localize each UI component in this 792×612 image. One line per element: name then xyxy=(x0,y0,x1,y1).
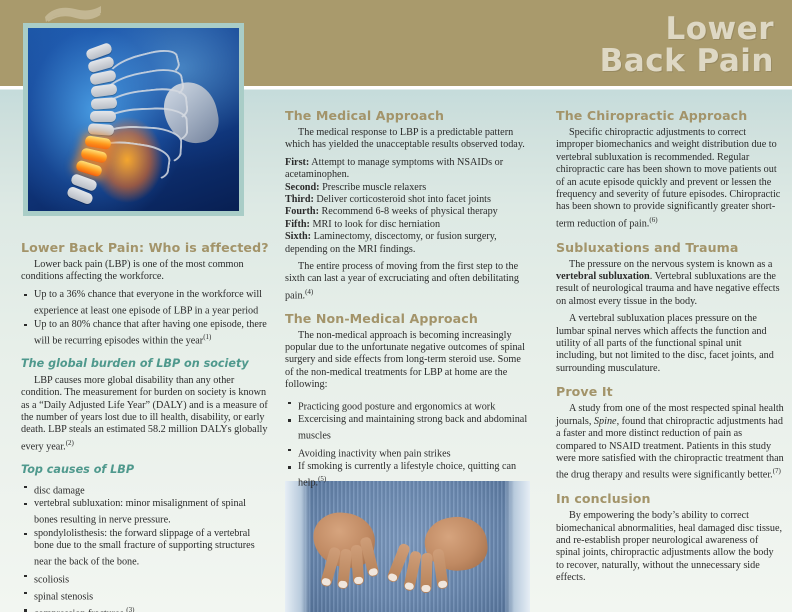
step-text: Attempt to manage symptoms with NSAIDs o… xyxy=(285,157,503,180)
subheading-global-burden: The global burden of LBP on society xyxy=(21,357,269,371)
step-fourth: Fourth: Recommend 6-8 weeks of physical … xyxy=(285,206,528,218)
reference-marker: (3) xyxy=(126,606,134,612)
paragraph-text-pre: The pressure on the nervous system is kn… xyxy=(569,259,772,270)
list-item: vertebral subluxation: minor misalignmen… xyxy=(21,498,269,527)
heading-subluxations-trauma: Subluxations and Trauma xyxy=(556,240,784,255)
list-item-text: vertebral subluxation: minor misalignmen… xyxy=(34,498,246,526)
paragraph-entire-process: The entire process of moving from the fi… xyxy=(285,261,528,303)
list-item: Up to a 36% chance that everyone in the … xyxy=(21,289,269,318)
paragraph-global-burden: LBP causes more global disability than a… xyxy=(21,375,269,454)
step-third: Third: Deliver corticosteroid shot into … xyxy=(285,194,528,206)
heading-who-is-affected: Lower Back Pain: Who is affected? xyxy=(21,240,269,255)
step-label: First: xyxy=(285,157,309,168)
page-title-line-2: Back Pain xyxy=(600,45,774,77)
paragraph-study: A study from one of the most respected s… xyxy=(556,403,784,482)
list-item-text: spondylolisthesis: the forward slippage … xyxy=(34,528,255,568)
page-title: Lower Back Pain xyxy=(600,13,774,77)
hands-on-lower-back-photo xyxy=(285,481,530,612)
step-label: Third: xyxy=(285,194,314,205)
reference-marker: (6) xyxy=(649,216,657,224)
step-label: Second: xyxy=(285,182,320,193)
list-item-text: compression fractures. xyxy=(34,609,126,612)
left-column: Lower Back Pain: Who is affected? Lower … xyxy=(21,240,269,612)
reference-marker: (2) xyxy=(66,439,74,447)
paragraph-intro: Lower back pain (LBP) is one of the most… xyxy=(21,259,269,284)
list-item-text: disc damage xyxy=(34,485,85,496)
list-item: If smoking is currently a lifestyle choi… xyxy=(285,461,528,490)
list-item-text: Excercising and maintaining strong back … xyxy=(298,414,527,442)
step-first: First: Attempt to manage symptoms with N… xyxy=(285,157,528,182)
step-text: Laminectomy, discectomy, or fusion surge… xyxy=(285,231,497,254)
paragraph-conclusion: By empowering the body’s ability to corr… xyxy=(556,510,784,584)
step-text: Recommend 6-8 weeks of physical therapy xyxy=(319,206,498,217)
paragraph-text: LBP causes more global disability than a… xyxy=(21,375,268,452)
list-item-text: spinal stenosis xyxy=(34,591,93,602)
list-item: spondylolisthesis: the forward slippage … xyxy=(21,528,269,570)
paragraph-medical-intro: The medical response to LBP is a predict… xyxy=(285,127,528,152)
paragraph-subluxation-definition: The pressure on the nervous system is kn… xyxy=(556,259,784,309)
step-sixth: Sixth: Laminectomy, discectomy, or fusio… xyxy=(285,231,528,256)
step-text: Prescribe muscle relaxers xyxy=(320,182,427,193)
heading-in-conclusion: In conclusion xyxy=(556,491,784,506)
step-label: Fifth: xyxy=(285,219,310,230)
list-item-text: Avoiding inactivity when pain strikes xyxy=(298,448,451,459)
paragraph-text: Specific chiropractic adjustments to cor… xyxy=(556,127,780,229)
vertebra-shape xyxy=(90,111,116,122)
reference-marker: (7) xyxy=(773,467,781,475)
middle-column: The Medical Approach The medical respons… xyxy=(285,108,528,494)
paragraph-subluxation-pressure: A vertebral subluxation places pressure … xyxy=(556,313,784,375)
paragraph-chiropractic: Specific chiropractic adjustments to cor… xyxy=(556,127,784,231)
photo-right-edge xyxy=(504,481,530,612)
spine-xray-illustration xyxy=(23,23,244,216)
heading-non-medical-approach: The Non-Medical Approach xyxy=(285,311,528,326)
top-causes-list: disc damage vertebral subluxation: minor… xyxy=(21,481,269,612)
reference-marker: (5) xyxy=(318,475,326,483)
reference-marker: (1) xyxy=(203,333,211,341)
finger xyxy=(420,553,432,593)
list-item-text: Up to an 80% chance that after having on… xyxy=(34,319,267,347)
list-item: Excercising and maintaining strong back … xyxy=(285,414,528,443)
heading-prove-it: Prove It xyxy=(556,384,784,399)
list-item: spinal stenosis xyxy=(21,587,269,604)
vertebra-shape xyxy=(91,97,118,110)
list-item: Avoiding inactivity when pain strikes xyxy=(285,444,528,461)
paragraph-non-medical-intro: The non-medical approach is becoming inc… xyxy=(285,330,528,392)
list-item: disc damage xyxy=(21,481,269,498)
step-label: Sixth: xyxy=(285,231,311,242)
step-text: MRI to look for disc herniation xyxy=(310,219,440,230)
step-second: Second: Prescribe muscle relaxers xyxy=(285,182,528,194)
vertebra-shape xyxy=(88,123,115,136)
step-text: Deliver corticosteroid shot into facet j… xyxy=(314,194,491,205)
step-label: Fourth: xyxy=(285,206,319,217)
heading-medical-approach: The Medical Approach xyxy=(285,108,528,123)
list-item: scoliosis xyxy=(21,570,269,587)
subheading-top-causes: Top causes of LBP xyxy=(21,463,269,477)
step-fifth: Fifth: MRI to look for disc herniation xyxy=(285,219,528,231)
list-item: Up to an 80% chance that after having on… xyxy=(21,319,269,348)
medical-steps-list: First: Attempt to manage symptoms with N… xyxy=(285,157,528,256)
photo-left-edge xyxy=(285,481,311,612)
journal-name-spine: Spine xyxy=(594,416,617,427)
list-item-text: If smoking is currently a lifestyle choi… xyxy=(298,461,516,489)
right-column: The Chiropractic Approach Specific chiro… xyxy=(556,108,784,590)
reference-marker: (4) xyxy=(305,288,313,296)
paragraph-text: The entire process of moving from the fi… xyxy=(285,261,519,301)
list-item: Practicing good posture and ergonomics a… xyxy=(285,397,528,414)
list-item: compression fractures.(3) xyxy=(21,604,269,612)
list-item-text: Practicing good posture and ergonomics a… xyxy=(298,401,495,412)
keyword-vertebral-subluxation: vertebral subluxation xyxy=(556,271,650,282)
heading-chiropractic-approach: The Chiropractic Approach xyxy=(556,108,784,123)
list-item-text: scoliosis xyxy=(34,574,69,585)
list-item-text: Up to a 36% chance that everyone in the … xyxy=(34,289,262,317)
affected-stats-list: Up to a 36% chance that everyone in the … xyxy=(21,289,269,348)
non-medical-treatments-list: Practicing good posture and ergonomics a… xyxy=(285,397,528,491)
page-title-line-1: Lower xyxy=(600,13,774,45)
